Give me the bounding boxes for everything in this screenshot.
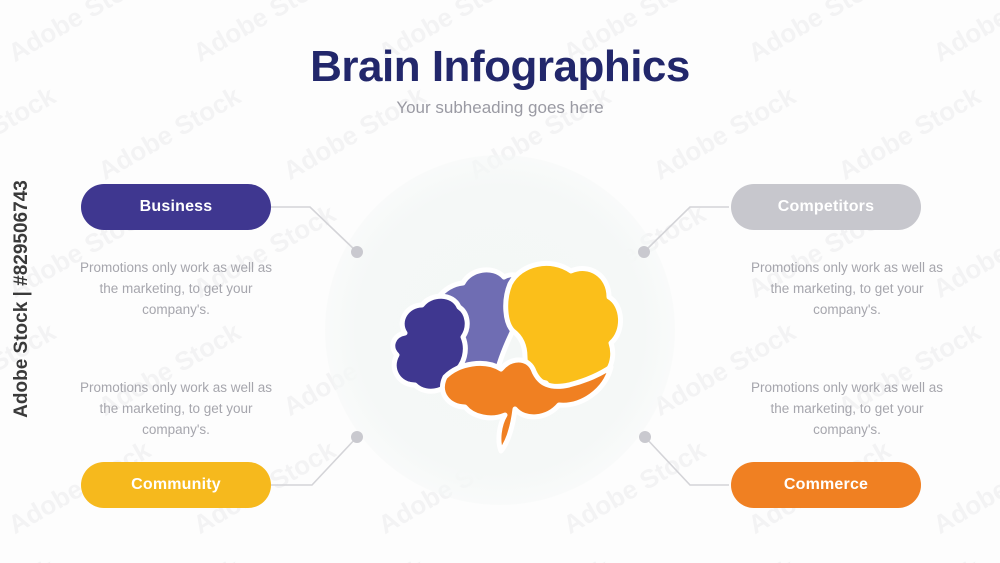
node-description-commerce: Promotions only work as well as the mark…: [742, 378, 952, 441]
node-description-competitors: Promotions only work as well as the mark…: [742, 258, 952, 321]
watermark-text: Adobe Stock: [833, 552, 986, 563]
watermark-text: Adobe Stock: [928, 434, 1000, 540]
brain-illustration: [375, 245, 625, 455]
node-pill-community[interactable]: Community: [81, 462, 271, 508]
watermark-text: Adobe Stock: [463, 552, 616, 563]
stock-watermark-label: Adobe Stock | #829506743: [11, 159, 33, 439]
page-title: Brain Infographics: [0, 42, 1000, 92]
page-subtitle: Your subheading goes here: [0, 98, 1000, 118]
node-pill-commerce[interactable]: Commerce: [731, 462, 921, 508]
watermark-text: Adobe Stock: [833, 80, 986, 186]
node-description-business: Promotions only work as well as the mark…: [71, 258, 281, 321]
watermark-text: Adobe Stock: [278, 80, 431, 186]
node-description-community: Promotions only work as well as the mark…: [71, 378, 281, 441]
node-pill-label: Commerce: [784, 476, 868, 494]
infographic-canvas: Adobe StockAdobe StockAdobe StockAdobe S…: [0, 0, 1000, 563]
watermark-text: Adobe Stock: [278, 552, 431, 563]
node-pill-label: Community: [131, 476, 221, 494]
node-pill-label: Competitors: [778, 198, 874, 216]
node-pill-business[interactable]: Business: [81, 184, 271, 230]
watermark-text: Adobe Stock: [648, 552, 801, 563]
watermark-text: Adobe Stock: [0, 552, 61, 563]
watermark-text: Adobe Stock: [648, 80, 801, 186]
watermark-text: Adobe Stock: [93, 80, 246, 186]
watermark-text: Adobe Stock: [93, 552, 246, 563]
node-pill-label: Business: [140, 198, 213, 216]
node-pill-competitors[interactable]: Competitors: [731, 184, 921, 230]
